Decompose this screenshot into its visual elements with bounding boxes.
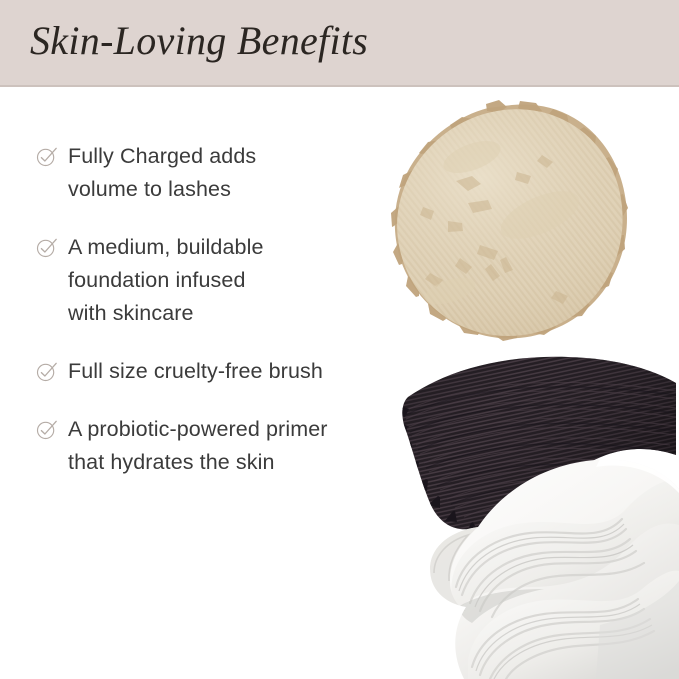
page-title: Skin-Loving Benefits [30,17,368,65]
pressed-powder-foundation-compact [360,95,679,355]
check-circle-icon [36,361,58,383]
product-benefits-graphic: Skin-Loving Benefits Fully Charged adds … [0,0,679,679]
header-divider [0,85,679,87]
product-swatch-artwork [360,95,679,679]
check-circle-icon [36,419,58,441]
check-circle-icon [36,237,58,259]
check-circle-icon [36,146,58,168]
